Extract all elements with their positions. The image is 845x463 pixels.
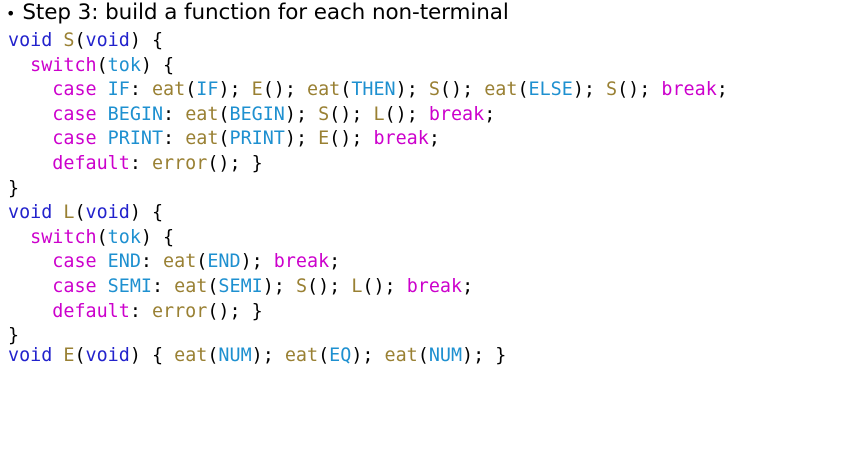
code-token-pun: ) { (141, 227, 174, 248)
code-token-pun: : (163, 128, 185, 149)
code-token-kw: switch (30, 55, 96, 76)
code-token-pun: (); } (207, 301, 262, 322)
code-token-kw: case (52, 104, 96, 125)
code-token-sym: PRINT (108, 128, 163, 149)
code-token-sym: ELSE (529, 79, 573, 100)
code-token-fn: eat (174, 345, 207, 366)
code-token-sym: END (207, 251, 240, 272)
code-block: void S(void) { switch(tok) { case IF: ea… (8, 29, 728, 369)
code-token-sym: BEGIN (230, 104, 285, 125)
code-token-kw: default (52, 301, 130, 322)
code-token-pun (97, 276, 108, 297)
code-line: default: error(); } (8, 300, 728, 325)
code-token-fn: eat (185, 104, 218, 125)
code-token-fn: E (318, 128, 329, 149)
code-token-pun: : (130, 301, 152, 322)
code-token-pun: ; (717, 79, 728, 100)
code-token-sym: IF (196, 79, 218, 100)
code-token-pun: ) { (141, 55, 174, 76)
code-line: default: error(); } (8, 152, 728, 177)
code-token-sym: END (108, 251, 141, 272)
code-token-kw: case (52, 128, 96, 149)
code-token-type: void (86, 202, 130, 223)
code-token-pun: ); (285, 128, 318, 149)
code-line: case END: eat(END); break; (8, 250, 728, 275)
code-line: void S(void) { (8, 29, 728, 54)
code-line: case SEMI: eat(SEMI); S(); L(); break; (8, 275, 728, 300)
code-token-fn: error (152, 301, 207, 322)
code-token-kw: break (429, 104, 484, 125)
code-token-kw: switch (30, 227, 96, 248)
code-token-sym: EQ (329, 345, 351, 366)
code-token-pun: : (141, 251, 163, 272)
code-token-pun (97, 251, 108, 272)
code-token-pun: ( (340, 79, 351, 100)
code-token-type: void (8, 345, 52, 366)
code-token-type: void (8, 30, 52, 51)
code-token-kw: break (373, 128, 428, 149)
code-token-fn: S (429, 79, 440, 100)
code-token-pun: ); (351, 345, 384, 366)
code-token-sym: SEMI (108, 276, 152, 297)
code-token-pun: ( (74, 345, 85, 366)
code-token-pun: (); (440, 79, 484, 100)
code-token-pun: (); (263, 79, 307, 100)
code-token-pun: : (130, 153, 152, 174)
code-token-fn: E (63, 345, 74, 366)
code-token-pun: ( (218, 128, 229, 149)
code-token-sym: BEGIN (108, 104, 163, 125)
code-token-type: void (8, 202, 52, 223)
code-token-pun: : (130, 79, 152, 100)
code-token-pun: (); (329, 104, 373, 125)
code-token-fn: eat (185, 128, 218, 149)
code-token-pun: ); (285, 104, 318, 125)
code-token-pun: ); } (462, 345, 506, 366)
code-token-pun: (); } (207, 153, 262, 174)
code-token-pun (97, 79, 108, 100)
code-token-pun: ( (418, 345, 429, 366)
code-token-pun (52, 202, 63, 223)
code-line: switch(tok) { (8, 54, 728, 79)
code-token-kw: case (52, 79, 96, 100)
code-token-pun: (); (307, 276, 351, 297)
code-token-pun: ( (218, 104, 229, 125)
code-token-pun: ) { (130, 30, 163, 51)
page-title: Step 3: build a function for each non-te… (22, 0, 508, 25)
code-token-pun: (); (617, 79, 661, 100)
code-token-pun: (); (329, 128, 373, 149)
code-token-pun: (); (362, 276, 406, 297)
code-token-pun: ); (218, 79, 251, 100)
code-token-pun: ; (429, 128, 440, 149)
code-token-pun: ); (252, 345, 285, 366)
bullet-dot-icon: • (6, 6, 15, 22)
code-token-fn: error (152, 153, 207, 174)
code-token-pun (8, 227, 30, 248)
code-token-pun: ); (396, 79, 429, 100)
code-token-type: void (86, 345, 130, 366)
code-token-sym: NUM (429, 345, 462, 366)
code-line: void L(void) { (8, 201, 728, 226)
code-token-pun: ; (484, 104, 495, 125)
code-token-fn: eat (385, 345, 418, 366)
code-token-pun: ( (318, 345, 329, 366)
code-token-pun: ( (74, 202, 85, 223)
code-token-pun: ) { (130, 345, 174, 366)
code-token-sym: PRINT (230, 128, 285, 149)
code-token-pun: ( (74, 30, 85, 51)
code-token-kw: default (52, 153, 130, 174)
code-token-fn: L (63, 202, 74, 223)
code-token-pun (8, 104, 52, 125)
code-token-kw: break (407, 276, 462, 297)
code-token-pun (8, 251, 52, 272)
code-line: } (8, 324, 728, 344)
code-token-fn: eat (484, 79, 517, 100)
code-token-sym: IF (108, 79, 130, 100)
code-token-pun (8, 128, 52, 149)
code-line: case PRINT: eat(PRINT); E(); break; (8, 127, 728, 152)
code-token-pun: ( (517, 79, 528, 100)
code-line: void E(void) { eat(NUM); eat(EQ); eat(NU… (8, 344, 728, 369)
code-token-pun (8, 153, 52, 174)
code-token-sym: tok (108, 227, 141, 248)
slide-canvas: • Step 3: build a function for each non-… (0, 0, 845, 463)
code-token-pun (8, 79, 52, 100)
code-token-pun: : (152, 276, 174, 297)
code-token-pun: (); (385, 104, 429, 125)
code-token-pun: : (163, 104, 185, 125)
code-token-sym: SEMI (218, 276, 262, 297)
code-token-pun (97, 128, 108, 149)
code-token-fn: S (606, 79, 617, 100)
code-token-fn: eat (163, 251, 196, 272)
code-token-pun: ( (207, 345, 218, 366)
code-line: } (8, 177, 728, 202)
code-token-pun: ) { (130, 202, 163, 223)
code-token-pun (97, 104, 108, 125)
code-token-fn: L (351, 276, 362, 297)
code-line: switch(tok) { (8, 226, 728, 251)
code-token-pun: ( (207, 276, 218, 297)
code-token-pun: } (8, 325, 19, 346)
code-token-fn: E (252, 79, 263, 100)
code-token-pun: ( (185, 79, 196, 100)
code-token-fn: S (296, 276, 307, 297)
code-token-pun (52, 345, 63, 366)
code-token-sym: THEN (351, 79, 395, 100)
code-token-type: void (86, 30, 130, 51)
code-token-kw: case (52, 276, 96, 297)
code-token-kw: case (52, 251, 96, 272)
code-line: case IF: eat(IF); E(); eat(THEN); S(); e… (8, 78, 728, 103)
code-token-fn: eat (174, 276, 207, 297)
code-token-fn: S (318, 104, 329, 125)
code-token-fn: eat (285, 345, 318, 366)
code-token-kw: break (661, 79, 716, 100)
code-line: case BEGIN: eat(BEGIN); S(); L(); break; (8, 103, 728, 128)
code-token-kw: break (274, 251, 329, 272)
code-token-pun (8, 276, 52, 297)
code-token-pun: ); (263, 276, 296, 297)
code-token-fn: eat (307, 79, 340, 100)
code-token-pun: ); (573, 79, 606, 100)
code-token-pun: ( (97, 55, 108, 76)
code-token-pun (8, 55, 30, 76)
code-token-pun: ; (462, 276, 473, 297)
code-token-pun: ); (241, 251, 274, 272)
code-token-sym: NUM (218, 345, 251, 366)
code-token-pun (8, 301, 52, 322)
code-token-pun (52, 30, 63, 51)
code-token-pun: ; (329, 251, 340, 272)
code-token-pun: ( (196, 251, 207, 272)
code-token-fn: S (63, 30, 74, 51)
code-token-sym: tok (108, 55, 141, 76)
code-token-fn: L (373, 104, 384, 125)
bullet-title: • Step 3: build a function for each non-… (6, 0, 509, 25)
code-token-fn: eat (152, 79, 185, 100)
code-token-pun: } (8, 178, 19, 199)
code-token-pun: ( (97, 227, 108, 248)
